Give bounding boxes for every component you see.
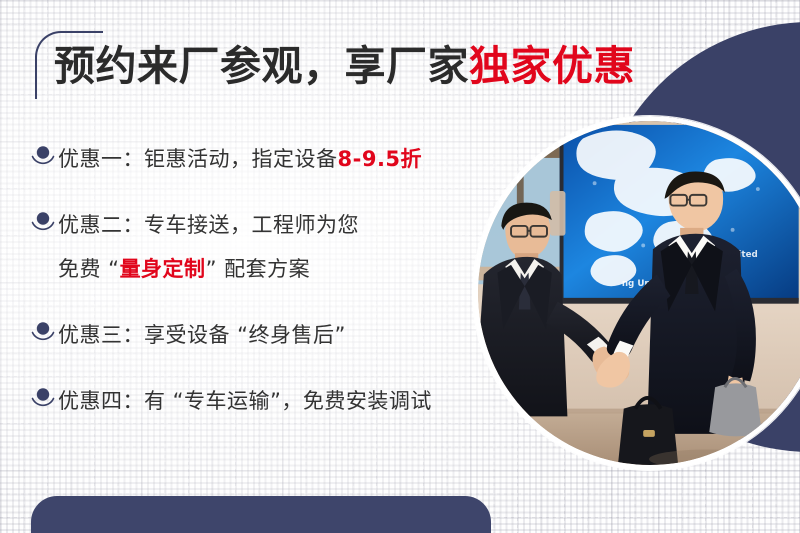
list-item-line: 优惠一：钜惠活动，指定设备8-9.5折 (58, 137, 422, 181)
list-item-highlight: 量身定制 (120, 257, 206, 281)
list-item-plain: 优惠一：钜惠活动，指定设备 (58, 147, 338, 171)
svg-text:ited: ited (738, 250, 757, 260)
page-title: 预约来厂参观，享厂家独家优惠 (54, 46, 635, 87)
page-title-highlight: 独家优惠 (469, 42, 635, 90)
list-item-plain-after: ” 配套方案 (206, 257, 311, 281)
list-item-plain: 优惠四：有 “专车运输”，免费安装调试 (58, 389, 432, 413)
promo-poster: 预约来厂参观，享厂家独家优惠 优惠一：钜惠活动，指定设备8-9.5折 (0, 0, 800, 533)
handshake-illustration: ng United ited (478, 121, 800, 465)
circle-arc-bullet-icon (28, 317, 58, 347)
list-item: 优惠三：享受设备 “终身售后” (28, 313, 498, 357)
circle-arc-bullet-icon (28, 207, 58, 237)
list-item: 优惠二：专车接送，工程师为您 免费 “量身定制” 配套方案 (28, 203, 498, 291)
circle-arc-bullet-icon (28, 383, 58, 413)
list-item-text: 优惠一：钜惠活动，指定设备8-9.5折 (58, 137, 422, 181)
list-item-text: 优惠二：专车接送，工程师为您 免费 “量身定制” 配套方案 (58, 203, 359, 291)
bottom-navy-bar (31, 496, 491, 533)
list-item-plain: 优惠二：专车接送，工程师为您 (58, 213, 359, 237)
list-item-line: 优惠四：有 “专车运输”，免费安装调试 (58, 379, 432, 423)
page-title-plain: 预约来厂参观，享厂家 (54, 42, 469, 90)
list-item: 优惠四：有 “专车运输”，免费安装调试 (28, 379, 498, 423)
handshake-photo-inner: ng United ited (478, 121, 800, 465)
list-item: 优惠一：钜惠活动，指定设备8-9.5折 (28, 137, 498, 181)
corner-bracket-tail (35, 56, 37, 97)
list-item-highlight: 8-9.5折 (338, 147, 423, 171)
list-item-text: 优惠四：有 “专车运输”，免费安装调试 (58, 379, 432, 423)
list-item-line: 免费 “量身定制” 配套方案 (58, 247, 359, 291)
list-item-line: 优惠二：专车接送，工程师为您 (58, 203, 359, 247)
list-item-text: 优惠三：享受设备 “终身售后” (58, 313, 346, 357)
circle-arc-bullet-icon (28, 141, 58, 171)
benefits-list: 优惠一：钜惠活动，指定设备8-9.5折 优惠二：专车接送，工程师为您 免费 “量… (28, 137, 498, 445)
list-item-line: 优惠三：享受设备 “终身售后” (58, 313, 346, 357)
list-item-plain: 优惠三：享受设备 “终身售后” (58, 323, 346, 347)
list-item-plain: 免费 “ (58, 257, 120, 281)
